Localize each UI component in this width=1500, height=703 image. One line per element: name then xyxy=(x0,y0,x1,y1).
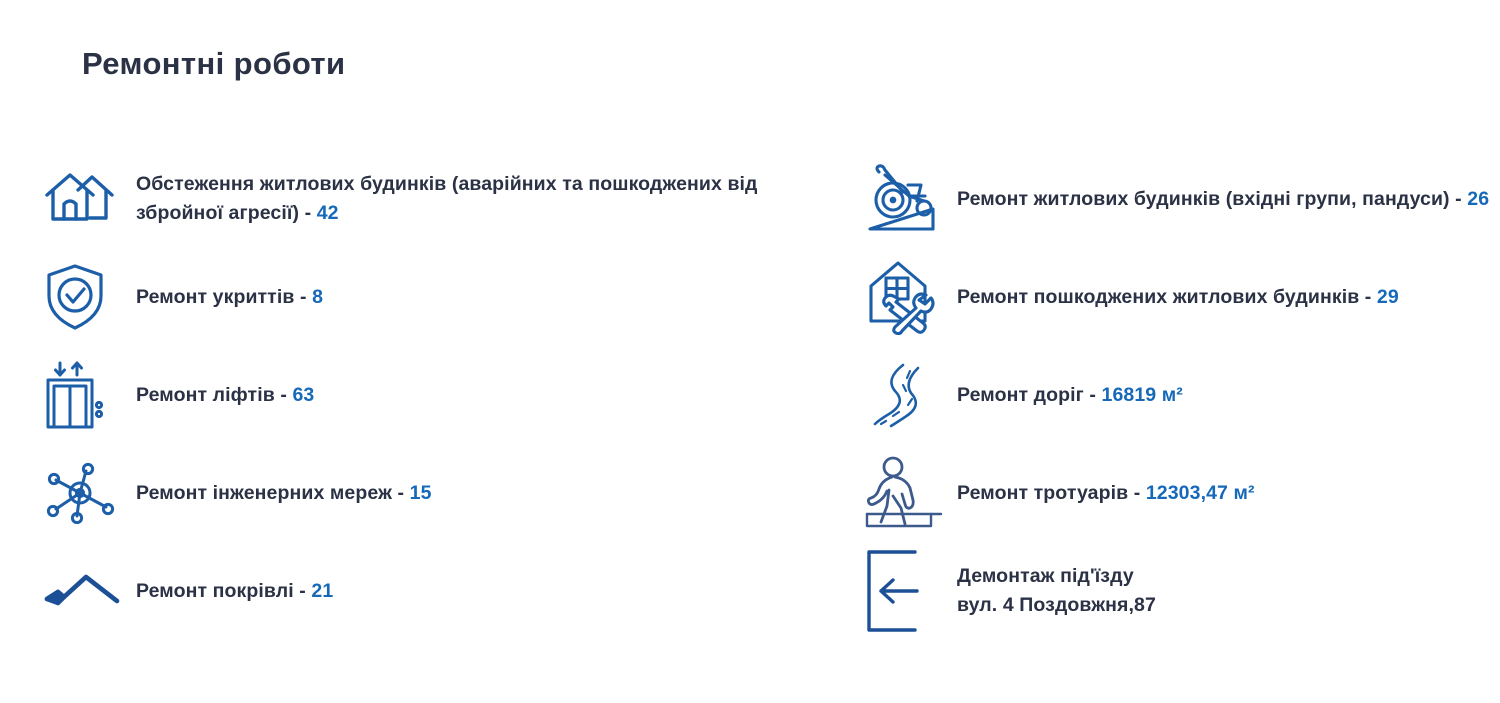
wheelchair-ramp-icon xyxy=(865,163,957,235)
list-item-label: Ремонт житлових будинків (вхідні групи, … xyxy=(957,185,1489,214)
list-item-label: Ремонт ліфтів - 63 xyxy=(136,381,314,410)
page-title: Ремонтні роботи xyxy=(82,46,345,82)
list-item-damaged-houses-repair: Ремонт пошкоджених житлових будинків - 2… xyxy=(865,248,1500,346)
list-item-housing-survey: Обстеження житлових будинків (аварійних … xyxy=(44,150,790,248)
house-tools-icon xyxy=(865,259,957,335)
list-item-entrance-demolition: Демонтаж під'їздувул. 4 Поздовжня,87 xyxy=(865,542,1500,640)
shield-check-icon xyxy=(44,262,136,332)
items-columns: Обстеження житлових будинків (аварійних … xyxy=(0,150,1500,640)
exit-arrow-icon xyxy=(865,548,957,634)
list-item-elevators: Ремонт ліфтів - 63 xyxy=(44,346,790,444)
list-item-label: Ремонт укриттів - 8 xyxy=(136,283,323,312)
roof-icon xyxy=(44,573,136,609)
elevator-icon xyxy=(44,359,136,431)
right-column: Ремонт житлових будинків (вхідні групи, … xyxy=(790,150,1500,640)
pedestrian-sidewalk-icon xyxy=(865,456,957,530)
list-item-label: Обстеження житлових будинків (аварійних … xyxy=(136,170,790,228)
list-item-label: Ремонт пошкоджених житлових будинків - 2… xyxy=(957,283,1399,312)
list-item-roads: Ремонт доріг - 16819 м² xyxy=(865,346,1500,444)
list-item-label: Ремонт тротуарів - 12303,47 м² xyxy=(957,479,1255,508)
list-item-utility-networks: Ремонт інженерних мереж - 15 xyxy=(44,444,790,542)
list-item-label: Ремонт покрівлі - 21 xyxy=(136,577,333,606)
list-item-shelters: Ремонт укриттів - 8 xyxy=(44,248,790,346)
list-item-entrance-groups-ramps: Ремонт житлових будинків (вхідні групи, … xyxy=(865,150,1500,248)
network-hub-icon xyxy=(44,462,136,524)
winding-road-icon xyxy=(865,362,957,428)
left-column: Обстеження житлових будинків (аварійних … xyxy=(0,150,790,640)
list-item-label: Ремонт інженерних мереж - 15 xyxy=(136,479,432,508)
list-item-label: Ремонт доріг - 16819 м² xyxy=(957,381,1183,410)
list-item-sidewalks: Ремонт тротуарів - 12303,47 м² xyxy=(865,444,1500,542)
list-item-label: Демонтаж під'їздувул. 4 Поздовжня,87 xyxy=(957,562,1156,620)
list-item-roofing: Ремонт покрівлі - 21 xyxy=(44,542,790,640)
repair-works-infographic: Ремонтні роботи Обстеження житлових буди… xyxy=(0,0,1500,703)
two-houses-icon xyxy=(44,168,136,230)
